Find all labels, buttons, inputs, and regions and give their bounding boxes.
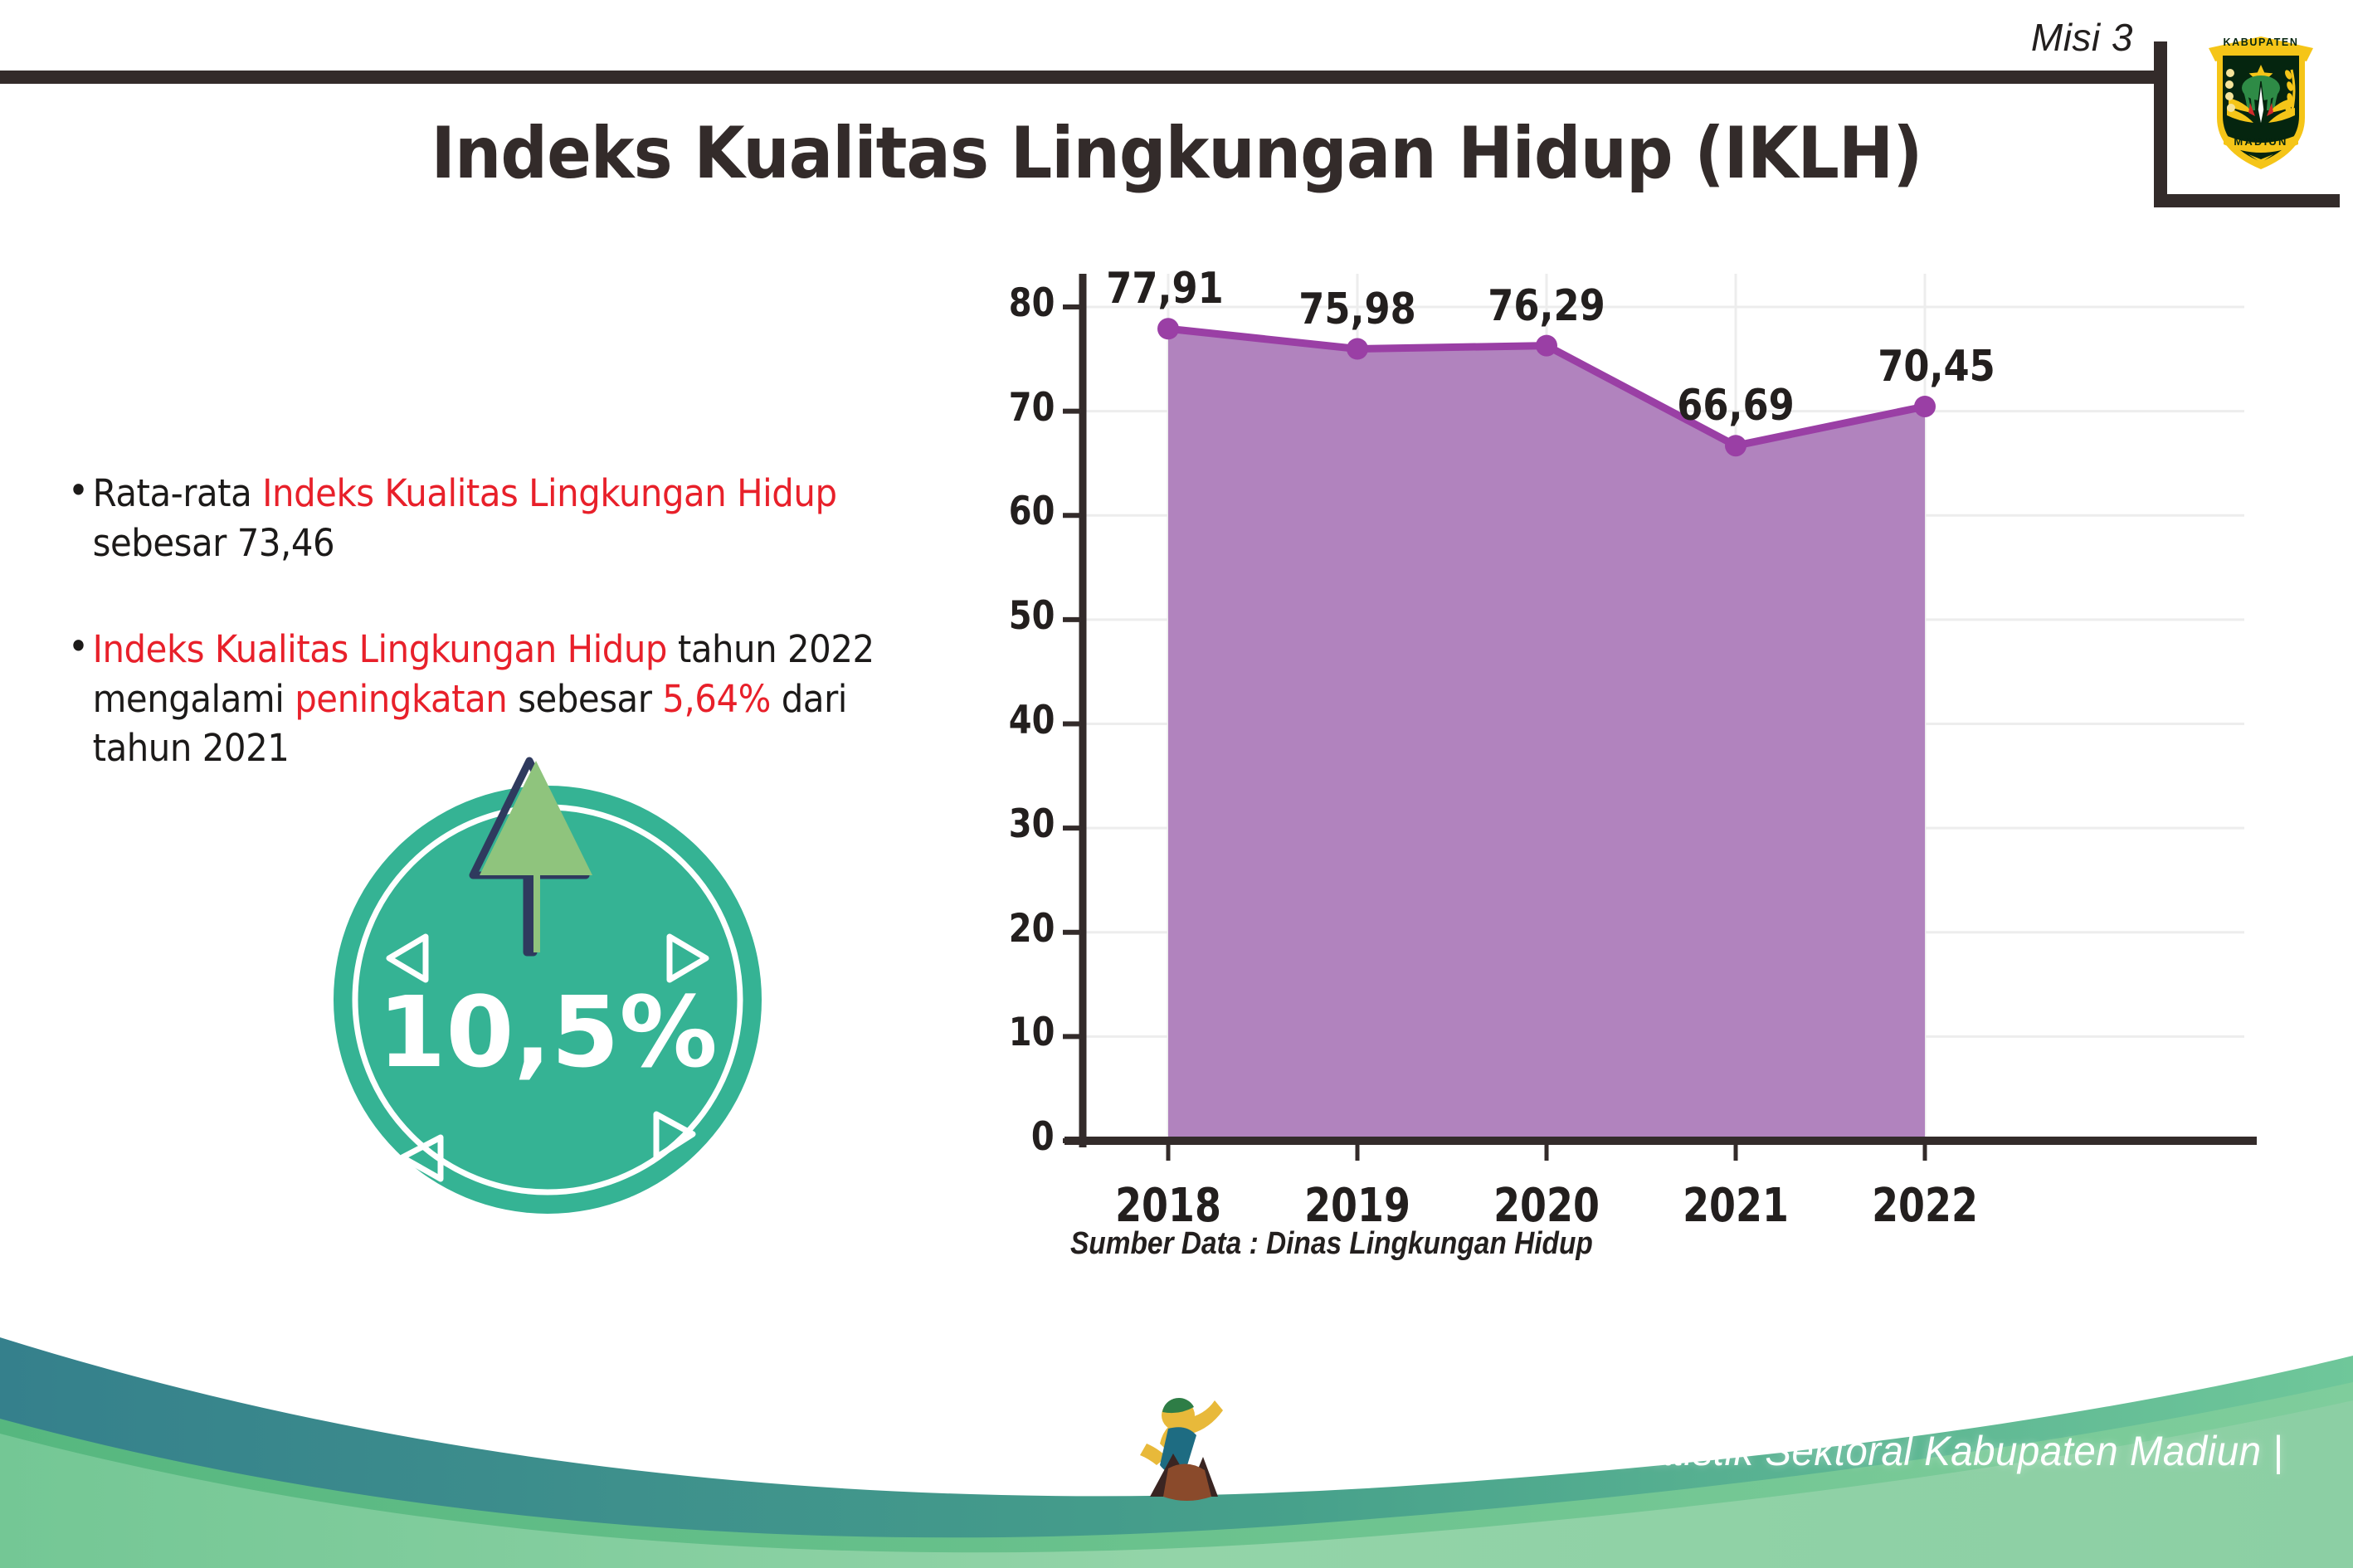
bullet-list: Rata-rata Indeks Kualitas Lingkungan Hid… [66, 469, 946, 773]
data-point-label: 70,45 [1858, 342, 2014, 392]
y-axis-tick-label: 30 [1008, 801, 1055, 847]
x-axis-tick-label: 2022 [1850, 1179, 2000, 1233]
x-axis-tick-label: 2019 [1283, 1179, 1432, 1233]
misi-label: Misi 3 [2031, 15, 2133, 60]
list-item: Rata-rata Indeks Kualitas Lingkungan Hid… [66, 469, 884, 568]
y-axis-tick-label: 60 [1008, 489, 1055, 534]
increase-badge: 10,5% [319, 751, 776, 1215]
data-point [1914, 396, 1936, 417]
y-axis-tick-label: 10 [1008, 1010, 1055, 1055]
footer-caption: Media Infografis Data Statistik Sektoral… [1218, 1427, 2283, 1475]
bullet-segment: sebesar 73,46 [93, 521, 335, 565]
area-fill [1168, 329, 1925, 1141]
x-axis-tick-label: 2018 [1094, 1179, 1243, 1233]
bullet-segment: sebesar [507, 677, 662, 721]
y-axis-tick-label: 40 [1008, 698, 1055, 743]
data-point [1157, 318, 1179, 339]
y-axis-tick-label: 20 [1008, 906, 1055, 952]
data-point-label: 77,91 [1086, 264, 1243, 314]
bullet-segment: Rata-rata [93, 471, 263, 515]
badge-value: 10,5% [378, 975, 717, 1089]
y-axis-tick-label: 80 [1008, 280, 1055, 326]
source-note: Sumber Data : Dinas Lingkungan Hidup [1070, 1226, 1593, 1262]
iklh-area-chart: 01020304050607080 20182019202020212022 7… [962, 274, 2257, 1294]
x-axis-tick-label: 2021 [1661, 1179, 1810, 1233]
bullet-segment: 5,64% [662, 677, 771, 721]
data-point [1725, 435, 1746, 456]
data-point [1536, 335, 1557, 357]
logo-top-text: KABUPATEN [2223, 37, 2298, 48]
y-axis-tick-label: 70 [1008, 385, 1055, 431]
data-point [1347, 338, 1368, 360]
header-rule-bottom [2154, 194, 2340, 207]
footer: Media Infografis Data Statistik Sektoral… [0, 1303, 2353, 1568]
data-point-label: 76,29 [1468, 281, 1625, 331]
bullet-segment: Indeks Kualitas Lingkungan Hidup [262, 471, 836, 515]
y-axis-tick-label: 50 [1008, 593, 1055, 639]
bullet-segment: peningkatan [295, 677, 507, 721]
bullet-segment: Indeks Kualitas Lingkungan Hidup [93, 627, 667, 671]
x-axis-tick-label: 2020 [1472, 1179, 1621, 1233]
data-point-label: 75,98 [1279, 285, 1435, 334]
data-point-label: 66,69 [1657, 381, 1814, 431]
page-title: Indeks Kualitas Lingkungan Hidup (IKLH) [94, 112, 2258, 195]
infographic-slide: Misi 3 [0, 0, 2353, 1568]
header-rule-horizontal [0, 71, 2167, 84]
y-axis-tick-label: 0 [1031, 1114, 1055, 1160]
